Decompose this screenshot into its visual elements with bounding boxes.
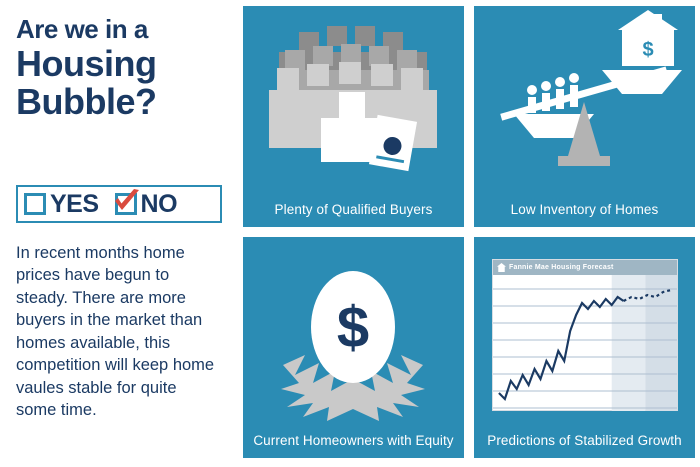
crowd-of-people-icon bbox=[243, 6, 464, 202]
svg-text:$: $ bbox=[337, 295, 369, 360]
headline-line-1: Are we in a bbox=[16, 16, 226, 42]
body-paragraph: In recent months home prices have begun … bbox=[16, 242, 220, 422]
card-homeowner-equity[interactable]: $ Current Homeowners with Equity bbox=[243, 237, 464, 458]
headline-line-3: Bubble? bbox=[16, 84, 226, 120]
check-mark-icon bbox=[113, 189, 141, 215]
card-low-inventory[interactable]: $ Low Inventory of Homes bbox=[474, 6, 695, 227]
home-icon bbox=[497, 263, 506, 272]
card-caption: Low Inventory of Homes bbox=[474, 202, 695, 217]
card-caption: Current Homeowners with Equity bbox=[243, 433, 464, 448]
vote-bar: YES NO bbox=[16, 185, 222, 223]
chart-window-title: Fannie Mae Housing Forecast bbox=[493, 260, 677, 275]
infographic-poster: Are we in a Housing Bubble? YES NO In re… bbox=[0, 0, 700, 467]
scale-balance-house-icon: $ bbox=[474, 6, 695, 202]
checkbox-unchecked-icon[interactable] bbox=[24, 193, 46, 215]
card-caption: Plenty of Qualified Buyers bbox=[243, 202, 464, 217]
card-caption: Predictions of Stabilized Growth bbox=[474, 433, 695, 448]
svg-text:$: $ bbox=[642, 39, 653, 61]
card-grid: Plenty of Qualified Buyers bbox=[243, 6, 695, 461]
card-qualified-buyers[interactable]: Plenty of Qualified Buyers bbox=[243, 6, 464, 227]
vote-label-yes: YES bbox=[50, 190, 99, 219]
nest-egg-dollar-icon: $ bbox=[243, 237, 464, 433]
vote-option-no[interactable]: NO bbox=[113, 190, 178, 219]
vote-label-no: NO bbox=[141, 190, 178, 219]
page-title: Are we in a Housing Bubble? bbox=[16, 16, 226, 120]
card-stabilized-growth[interactable]: Fannie Mae Housing Forecast bbox=[474, 237, 695, 458]
chart-window: Fannie Mae Housing Forecast bbox=[492, 259, 678, 411]
headline-line-2: Housing bbox=[16, 46, 226, 82]
checkbox-checked-wrap[interactable] bbox=[113, 192, 139, 216]
forecast-line-chart bbox=[493, 275, 677, 411]
vote-option-yes[interactable]: YES bbox=[24, 190, 99, 219]
